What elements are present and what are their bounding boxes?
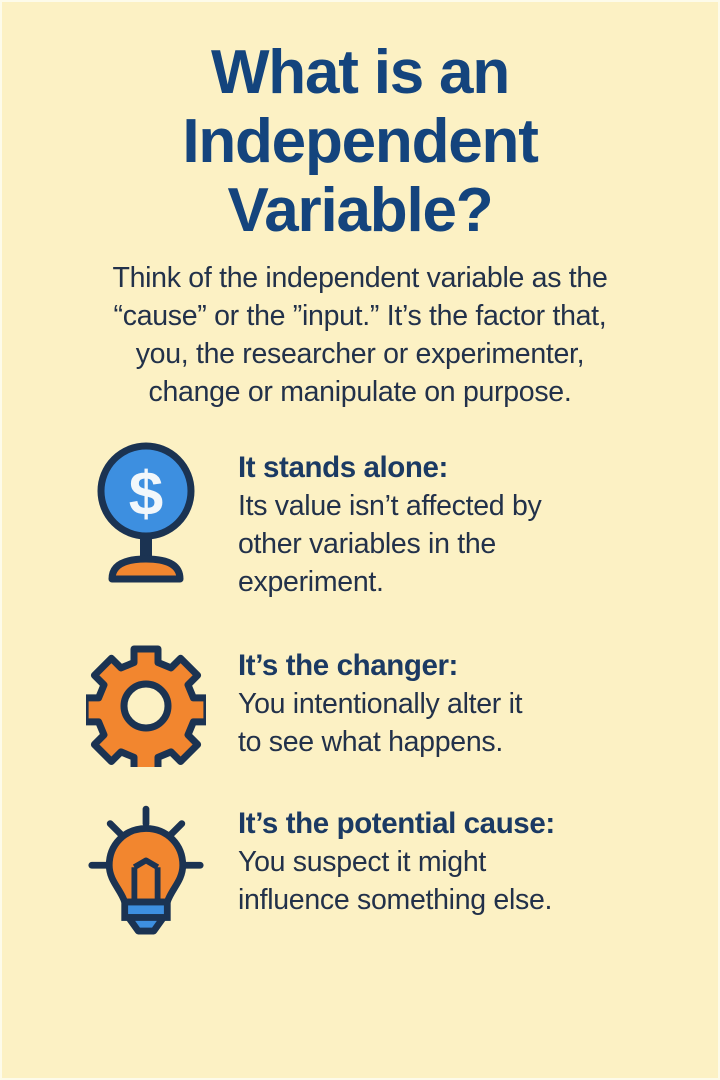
- point-body-line: You intentionally alter it: [238, 685, 690, 723]
- point-body: You intentionally alter it to see what h…: [238, 685, 690, 761]
- page-title: What is an Independent Variable?: [2, 2, 718, 245]
- intro-line-2: “cause” or the ”input.” It’s the factor …: [32, 297, 688, 335]
- point-heading: It’s the potential cause:: [238, 805, 690, 843]
- lightbulb-icon: [86, 791, 206, 943]
- intro-line-3: you, the researcher or experimenter,: [32, 335, 688, 373]
- title-line-3: Variable?: [42, 176, 678, 245]
- list-item: $ It stands alone: Its value isn’t affec…: [2, 435, 718, 601]
- point-text: It stands alone: Its value isn’t affecte…: [206, 435, 690, 601]
- dollar-sign-stand-icon: $: [86, 435, 206, 589]
- point-body-line: Its value isn’t affected by: [238, 487, 690, 525]
- point-text: It’s the changer: You intentionally alte…: [206, 633, 690, 761]
- intro-line-4: change or manipulate on purpose.: [32, 373, 688, 411]
- point-text: It’s the potential cause: You suspect it…: [206, 791, 690, 919]
- intro-line-1: Think of the independent variable as the: [32, 259, 688, 297]
- point-body: You suspect it might influence something…: [238, 843, 690, 919]
- infographic-poster: What is an Independent Variable? Think o…: [0, 0, 720, 1080]
- list-item: It’s the changer: You intentionally alte…: [2, 633, 718, 767]
- point-heading: It’s the changer:: [238, 647, 690, 685]
- key-points-list: $ It stands alone: Its value isn’t affec…: [2, 411, 718, 943]
- gear-icon: [86, 633, 206, 767]
- point-body-line: You suspect it might: [238, 843, 690, 881]
- point-heading: It stands alone:: [238, 449, 690, 487]
- point-body-line: influence something else.: [238, 881, 690, 919]
- title-line-1: What is an: [42, 38, 678, 107]
- point-body-line: to see what happens.: [238, 723, 690, 761]
- point-body: Its value isn’t affected by other variab…: [238, 487, 690, 601]
- point-body-line: other variables in the: [238, 525, 690, 563]
- title-line-2: Independent: [42, 107, 678, 176]
- svg-text:$: $: [129, 460, 163, 529]
- intro-paragraph: Think of the independent variable as the…: [2, 245, 718, 411]
- list-item: It’s the potential cause: You suspect it…: [2, 791, 718, 943]
- point-body-line: experiment.: [238, 563, 690, 601]
